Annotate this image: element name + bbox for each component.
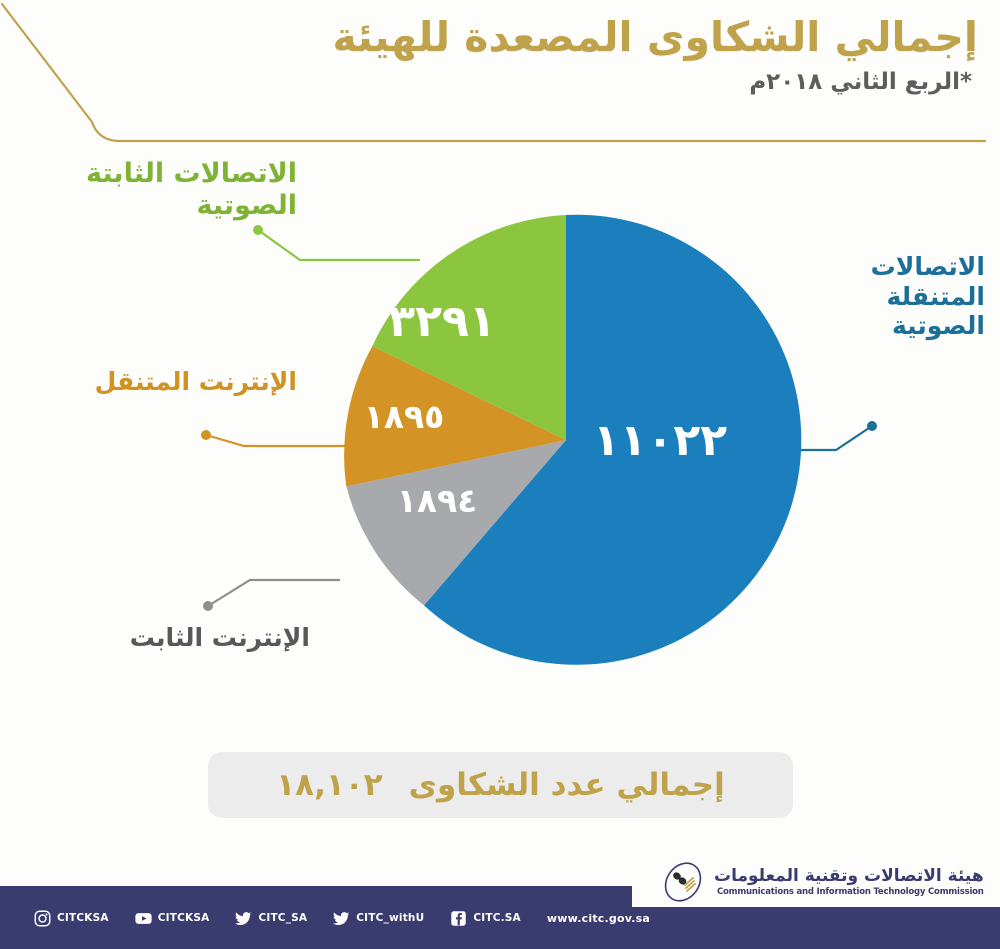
social-links: CITCKSA CITCKSA CITC_SA CITC_withU	[34, 898, 668, 938]
page-subtitle: *الربع الثاني ٢٠١٨م	[0, 69, 978, 95]
total-label: إجمالي عدد الشكاوى	[409, 767, 725, 803]
logo-text-english: Communications and Information Technolog…	[714, 887, 984, 897]
total-banner: إجمالي عدد الشكاوى ١٨,١٠٢	[208, 752, 793, 818]
pie-value-mobile-internet: ١٨٩٥	[364, 397, 445, 436]
social-link-youtube[interactable]: CITCKSA	[135, 910, 210, 927]
pie-value-mobile-voice: ١١٠٢٢	[593, 415, 727, 466]
category-label-mobile-voice: الاتصالات المتنقلة الصوتية	[805, 252, 985, 341]
citc-logo: هيئة الاتصالات وتقنية المعلومات Communic…	[660, 858, 990, 906]
total-value: ١٨,١٠٢	[276, 767, 382, 803]
youtube-icon	[135, 910, 152, 927]
category-label-fixed-voice: الاتصالات الثابتة الصوتية	[47, 158, 297, 222]
facebook-icon	[450, 910, 467, 927]
pie-slices	[344, 215, 801, 665]
instagram-icon	[34, 910, 51, 927]
leader-line-fixed-internet	[203, 580, 340, 611]
twitter-icon	[235, 910, 252, 927]
social-handle-instagram: CITCKSA	[57, 912, 109, 924]
leader-line-fixed-voice	[253, 225, 420, 260]
social-link-twitter-citc-sa[interactable]: CITC_SA	[235, 910, 307, 927]
category-label-fixed-internet: الإنترنت الثابت	[60, 623, 310, 653]
social-link-twitter-citc-withu[interactable]: CITC_withU	[333, 910, 424, 927]
pie-value-fixed-internet: ١٨٩٤	[397, 481, 478, 520]
twitter-icon	[333, 910, 350, 927]
leader-line-mobile-internet	[201, 430, 360, 446]
website-url[interactable]: www.citc.gov.sa	[547, 912, 650, 925]
infographic-page: إجمالي الشكاوى المصعدة للهيئة *الربع الث…	[0, 0, 1000, 949]
social-link-facebook[interactable]: CITC.SA	[450, 910, 521, 927]
category-label-mobile-internet: الإنترنت المتنقل	[57, 367, 297, 397]
citc-emblem-icon	[660, 861, 706, 903]
social-link-instagram[interactable]: CITCKSA	[34, 910, 109, 927]
logo-text-arabic: هيئة الاتصالات وتقنية المعلومات	[714, 867, 984, 886]
social-handle-facebook: CITC.SA	[473, 912, 521, 924]
social-handle-twitter-citc-withu: CITC_withU	[356, 912, 424, 924]
social-handle-twitter-citc-sa: CITC_SA	[258, 912, 307, 924]
page-title: إجمالي الشكاوى المصعدة للهيئة	[0, 14, 978, 61]
pie-chart: ١١٠٢٢ ١٨٩٤ ١٨٩٥ ٣٢٩١ الاتصالات الثابتة ا…	[0, 150, 1000, 710]
social-handle-youtube: CITCKSA	[158, 912, 210, 924]
pie-value-fixed-voice: ٣٢٩١	[388, 296, 495, 347]
header: إجمالي الشكاوى المصعدة للهيئة *الربع الث…	[0, 14, 1000, 95]
